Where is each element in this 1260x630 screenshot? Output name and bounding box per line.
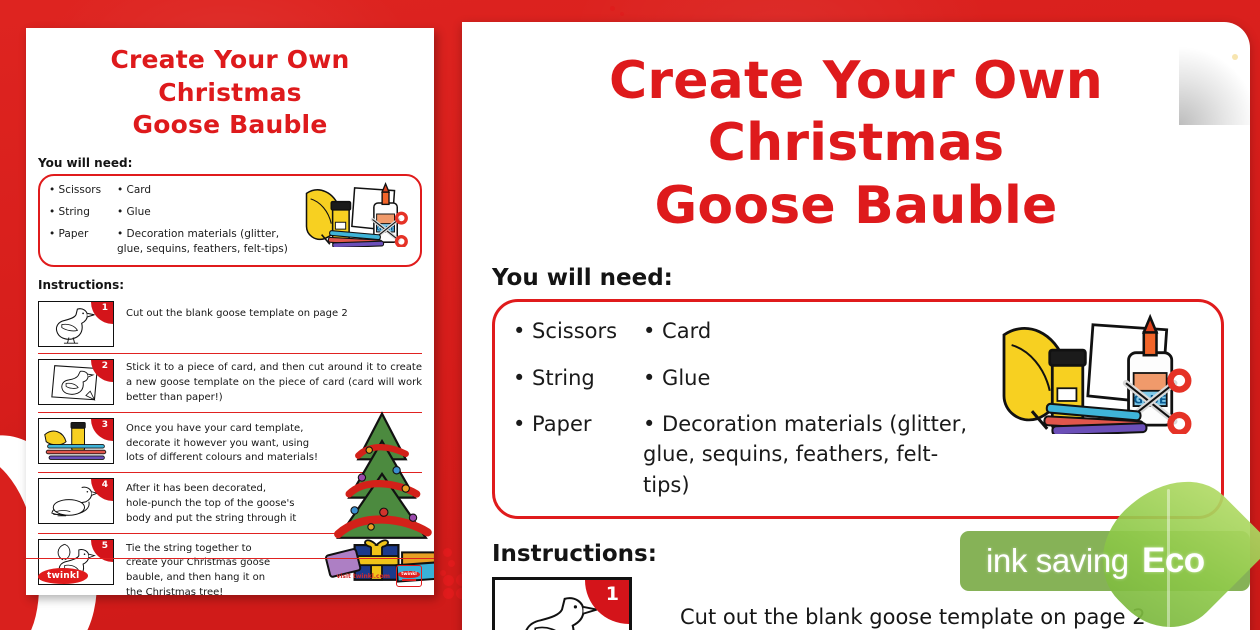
twinkl-badge: twinkl (396, 565, 422, 587)
step-text: After it has been decorated, hole-punch … (126, 478, 296, 526)
thumbnail-materials-column-left: • Scissors • String • Paper (49, 183, 117, 258)
step-thumbnail: 4 (38, 478, 114, 524)
berry-dot (443, 575, 454, 586)
main-materials-box: • Scissors • String • Paper • Card • Glu… (492, 299, 1224, 519)
step-number: 1 (606, 583, 619, 605)
step-text: Cut out the blank goose template on page… (126, 301, 348, 322)
main-title: Create Your Own Christmas Goose Bauble (462, 22, 1250, 243)
step-thumbnail: 3 (38, 418, 114, 464)
material-item: • Glue (117, 205, 292, 220)
screenshot-canvas: Create Your Own Christmas Goose Bauble Y… (0, 0, 1260, 630)
material-item: • Scissors (49, 183, 117, 198)
berry-dot (620, 12, 624, 16)
step-thumbnail: 1 (38, 301, 114, 347)
material-item: • Paper (49, 227, 117, 242)
main-title-line2: Goose Bauble (492, 175, 1220, 237)
thumbnail-title-line2: Goose Bauble (44, 109, 416, 142)
twinkl-badge-rule (402, 579, 416, 581)
craft-supplies-illustration: GLUE (301, 181, 411, 247)
step-text: Once you have your card template, decora… (126, 418, 318, 466)
footer-url[interactable]: visit twinkl.com (336, 573, 390, 580)
thumbnail-page[interactable]: Create Your Own Christmas Goose Bauble Y… (26, 28, 434, 595)
footer-right-group: visit twinkl.com twinkl (336, 565, 422, 587)
berry-dot (443, 588, 454, 599)
material-item: • Scissors (513, 316, 643, 346)
material-item: • Card (643, 316, 983, 346)
material-item: • Paper (513, 409, 643, 439)
craft-supplies-illustration: GLUE (988, 312, 1203, 434)
thumbnail-materials-columns: • Scissors • String • Paper • Card • Glu… (49, 183, 301, 258)
ink-saving-eco-badge: ink saving Eco (960, 523, 1250, 599)
step-number: 4 (102, 480, 108, 490)
berry-dot (610, 6, 615, 11)
twinkl-badge-text: twinkl (398, 571, 420, 578)
step-row[interactable]: 2 Stick it to a piece of card, and then … (38, 353, 422, 411)
step-thumbnail: 1 (492, 577, 632, 630)
thumbnail-materials-box: • Scissors • String • Paper • Card • Glu… (38, 174, 422, 268)
material-item: • Glue (643, 363, 983, 393)
material-item: • String (513, 363, 643, 393)
eco-leaf-label: Eco (1142, 541, 1205, 581)
step-row[interactable]: 1 Cut out the blank goose template on pa… (38, 297, 422, 353)
material-item: • Decoration materials (glitter, glue, s… (643, 409, 983, 500)
thumbnail-footer: twinkl visit twinkl.com twinkl (26, 558, 434, 595)
step-number: 2 (102, 361, 108, 371)
main-materials-column-left: • Scissors • String • Paper (513, 316, 643, 500)
thumbnail-instructions-label: Instructions: (38, 278, 434, 292)
thumbnail-materials-label: You will need: (38, 156, 434, 170)
material-item: • String (49, 205, 117, 220)
step-thumbnail: 2 (38, 359, 114, 405)
craft-supplies-icon: GLUE (301, 181, 411, 247)
twinkl-logo[interactable]: twinkl (38, 568, 88, 584)
step-number: 1 (102, 303, 108, 313)
craft-supplies-icon: GLUE (988, 312, 1203, 434)
thumbnail-materials-column-right: • Card • Glue • Decoration materials (gl… (117, 183, 292, 258)
step-text: Stick it to a piece of card, and then cu… (126, 359, 422, 405)
material-item: • Decoration materials (glitter, glue, s… (117, 227, 292, 257)
page-curl-dot (1232, 54, 1238, 60)
thumbnail-title-line1: Create Your Own Christmas (44, 44, 416, 109)
main-title-line1: Create Your Own Christmas (492, 50, 1220, 175)
main-materials-label: You will need: (492, 265, 1250, 291)
eco-label: ink saving (986, 542, 1129, 580)
main-materials-columns: • Scissors • String • Paper • Card • Glu… (513, 316, 988, 500)
material-item: • Card (117, 183, 292, 198)
thumbnail-title: Create Your Own Christmas Goose Bauble (26, 28, 434, 146)
main-materials-column-right: • Card • Glue • Decoration materials (gl… (643, 316, 983, 500)
berry-dot (443, 548, 452, 557)
berry-dot (448, 560, 455, 567)
step-number: 5 (102, 541, 108, 551)
step-number: 3 (102, 420, 108, 430)
